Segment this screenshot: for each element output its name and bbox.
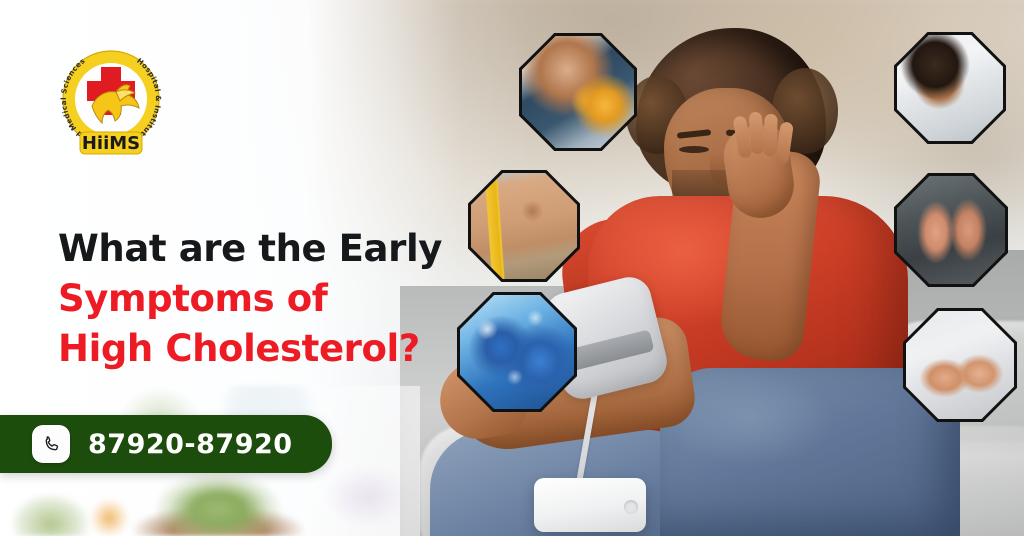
phone-handset-icon: [42, 435, 61, 454]
hero-finger: [763, 114, 777, 156]
promo-banner: Hospital & Institute of Integrated Medic…: [0, 0, 1024, 536]
symptom-thumb-image: [460, 295, 574, 409]
headline-line-1: What are the Early: [58, 224, 442, 274]
symptom-thumb-cholesterol-molecules: [457, 292, 577, 412]
symptom-thumb-image: [522, 36, 634, 148]
hero-eye: [679, 146, 709, 153]
contact-phone-banner[interactable]: 87920-87920: [0, 415, 332, 473]
phone-number: 87920-87920: [88, 429, 293, 460]
symptom-thumb-unhealthy-eating: [519, 33, 637, 151]
symptom-thumb-image: [897, 35, 1003, 141]
symptom-thumb-image: [471, 173, 577, 279]
headline-line-2: Symptoms of: [58, 274, 442, 324]
symptom-thumb-image: [906, 311, 1014, 419]
headline-line-3: High Cholesterol?: [58, 324, 442, 374]
hiims-logo-icon: Hospital & Institute of Integrated Medic…: [52, 40, 170, 162]
blood-pressure-monitor: [534, 478, 646, 532]
phone-icon-badge: [32, 425, 70, 463]
logo-wordmark: HiiMS: [82, 133, 140, 154]
hiims-logo[interactable]: Hospital & Institute of Integrated Medic…: [52, 40, 170, 162]
page-title: What are the Early Symptoms of High Chol…: [58, 224, 442, 374]
symptom-thumb-image: [897, 176, 1005, 284]
